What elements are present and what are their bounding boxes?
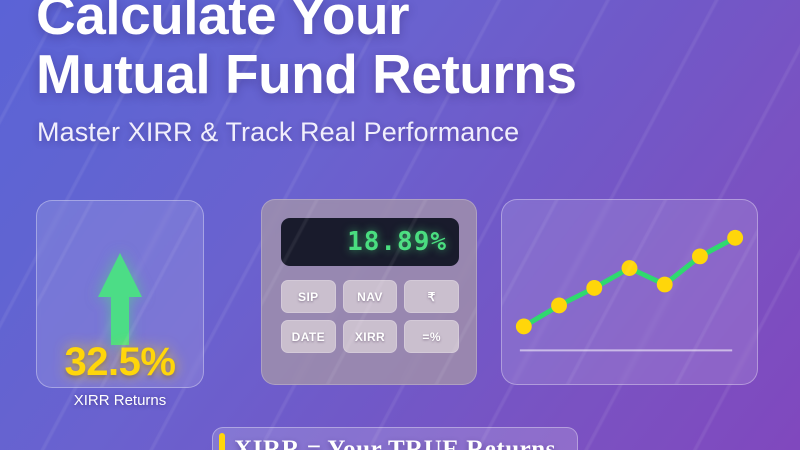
calculator-keypad: SIP NAV ₹ DATE XIRR =%	[281, 280, 459, 353]
page-title: Calculate Your Mutual Fund Returns	[36, 0, 766, 104]
chart-point-3	[586, 280, 602, 296]
calc-key-sip[interactable]: SIP	[281, 280, 336, 313]
calc-key-xirr[interactable]: XIRR	[343, 320, 398, 353]
chart-point-7	[727, 230, 743, 246]
calculator-card: 18.89% SIP NAV ₹ DATE XIRR =%	[261, 199, 477, 385]
chart-points	[516, 230, 743, 334]
banner-text: XIRR = Your TRUE Returns	[213, 436, 577, 450]
chart-point-2	[551, 298, 567, 314]
chart-point-5	[657, 277, 673, 293]
chart-point-4	[622, 260, 638, 276]
calc-key-rupee[interactable]: ₹	[404, 280, 459, 313]
calculator-display-value: 18.89%	[347, 227, 447, 257]
xirr-returns-card: 32.5%	[36, 200, 204, 388]
calc-key-date[interactable]: DATE	[281, 320, 336, 353]
chart-point-6	[692, 248, 708, 264]
title-line-2: Mutual Fund Returns	[36, 45, 766, 104]
growth-line-chart	[502, 200, 757, 384]
chart-point-1	[516, 319, 532, 335]
metric-label: XIRR Returns	[36, 392, 204, 409]
tagline-banner: XIRR = Your TRUE Returns	[212, 427, 578, 450]
page-subtitle: Master XIRR & Track Real Performance	[37, 117, 519, 148]
calc-key-nav[interactable]: NAV	[343, 280, 398, 313]
metric-value: 32.5%	[37, 340, 203, 385]
calculator-display: 18.89%	[281, 218, 459, 266]
title-line-1: Calculate Your	[36, 0, 409, 46]
promo-banner-canvas: Calculate Your Mutual Fund Returns Maste…	[0, 0, 800, 450]
growth-chart-card	[501, 199, 758, 385]
arrow-up-icon	[37, 253, 203, 345]
calc-key-equals-percent[interactable]: =%	[404, 320, 459, 353]
